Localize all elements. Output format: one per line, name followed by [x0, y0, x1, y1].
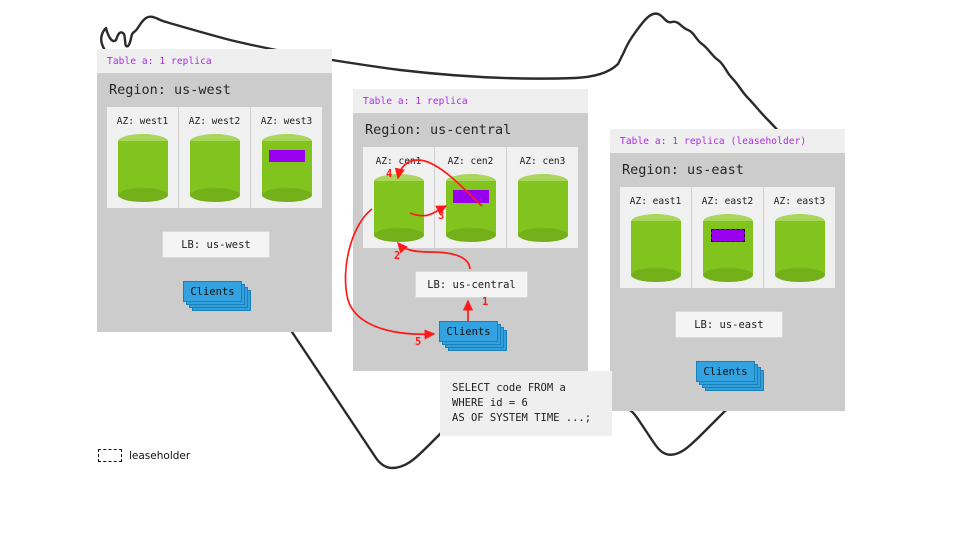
region-title-us-east: Region: us-east [610, 153, 845, 187]
az-label-west2: AZ: west2 [189, 107, 240, 134]
az-label-east2: AZ: east2 [702, 187, 753, 214]
cylinder-side-east1 [631, 221, 681, 275]
replica-block-east2-leaseholder [711, 229, 745, 242]
clients-us-west[interactable]: Clients [183, 281, 255, 313]
az-body-west3 [251, 134, 322, 208]
cylinder-bottom-cen3 [518, 228, 568, 242]
cylinder-bottom-west2 [190, 188, 240, 202]
az-label-east3: AZ: east3 [774, 187, 825, 214]
az-west2[interactable]: AZ: west2 [179, 107, 251, 208]
az-body-cen1 [363, 174, 434, 248]
arrow-number-3: 3 [438, 210, 444, 222]
az-east3[interactable]: AZ: east3 [764, 187, 835, 288]
legend-leaseholder: leaseholder [98, 449, 190, 462]
az-row-us-central: AZ: cen1 AZ: cen2 [363, 147, 578, 248]
replica-block-cen2 [453, 190, 489, 203]
sql-query-box: SELECT code FROM a WHERE id = 6 AS OF SY… [440, 371, 612, 436]
cylinder-cen2 [446, 174, 496, 242]
cylinder-west1 [118, 134, 168, 202]
az-east1[interactable]: AZ: east1 [620, 187, 692, 288]
az-cen1[interactable]: AZ: cen1 [363, 147, 435, 248]
az-label-west3: AZ: west3 [261, 107, 312, 134]
arrow-number-4: 4 [386, 168, 392, 180]
az-cen2[interactable]: AZ: cen2 [435, 147, 507, 248]
cylinder-side-cen1 [374, 181, 424, 235]
cylinder-side-west2 [190, 141, 240, 195]
az-label-cen2: AZ: cen2 [448, 147, 494, 174]
legend-label: leaseholder [129, 450, 190, 462]
az-body-cen2 [435, 174, 506, 248]
cylinder-bottom-east1 [631, 268, 681, 282]
cylinder-east1 [631, 214, 681, 282]
az-east2[interactable]: AZ: east2 [692, 187, 764, 288]
az-body-cen3 [507, 174, 578, 248]
az-body-east2 [692, 214, 763, 288]
region-title-us-west: Region: us-west [97, 73, 332, 107]
arrow-number-5: 5 [415, 336, 421, 348]
clients-us-east[interactable]: Clients [696, 361, 768, 393]
replica-block-west3 [269, 150, 305, 162]
cylinder-east2 [703, 214, 753, 282]
load-balancer-us-east[interactable]: LB: us-east [675, 311, 783, 338]
az-label-west1: AZ: west1 [117, 107, 168, 134]
load-balancer-us-west[interactable]: LB: us-west [162, 231, 270, 258]
clients-label-us-central[interactable]: Clients [439, 321, 498, 342]
cylinder-bottom-east3 [775, 268, 825, 282]
arrow-number-1: 1 [482, 296, 488, 308]
az-body-west1 [107, 134, 178, 208]
az-west3[interactable]: AZ: west3 [251, 107, 322, 208]
cylinder-west2 [190, 134, 240, 202]
cylinder-bottom-cen2 [446, 228, 496, 242]
az-label-east1: AZ: east1 [630, 187, 681, 214]
clients-label-us-east[interactable]: Clients [696, 361, 755, 382]
az-row-us-west: AZ: west1 AZ: west2 [107, 107, 322, 208]
region-header-us-west: Table a: 1 replica [97, 49, 332, 73]
dashed-rect-icon [98, 449, 122, 462]
clients-label-us-west[interactable]: Clients [183, 281, 242, 302]
cylinder-east3 [775, 214, 825, 282]
az-row-us-east: AZ: east1 AZ: east2 [620, 187, 835, 288]
cylinder-side-west1 [118, 141, 168, 195]
az-body-west2 [179, 134, 250, 208]
cylinder-side-cen3 [518, 181, 568, 235]
cylinder-bottom-west1 [118, 188, 168, 202]
region-title-us-central: Region: us-central [353, 113, 588, 147]
region-header-us-east: Table a: 1 replica (leaseholder) [610, 129, 845, 153]
region-header-us-central: Table a: 1 replica [353, 89, 588, 113]
az-cen3[interactable]: AZ: cen3 [507, 147, 578, 248]
arrow-number-2: 2 [394, 250, 400, 262]
az-west1[interactable]: AZ: west1 [107, 107, 179, 208]
az-label-cen3: AZ: cen3 [520, 147, 566, 174]
az-body-east3 [764, 214, 835, 288]
cylinder-bottom-east2 [703, 268, 753, 282]
cylinder-cen3 [518, 174, 568, 242]
cylinder-bottom-cen1 [374, 228, 424, 242]
az-label-cen1: AZ: cen1 [376, 147, 422, 174]
cylinder-west3 [262, 134, 312, 202]
cylinder-bottom-west3 [262, 188, 312, 202]
clients-us-central[interactable]: Clients [439, 321, 511, 353]
az-body-east1 [620, 214, 691, 288]
diagram-canvas: Table a: 1 replica Region: us-west AZ: w… [0, 0, 960, 540]
load-balancer-us-central[interactable]: LB: us-central [415, 271, 528, 298]
cylinder-cen1 [374, 174, 424, 242]
cylinder-side-east3 [775, 221, 825, 275]
